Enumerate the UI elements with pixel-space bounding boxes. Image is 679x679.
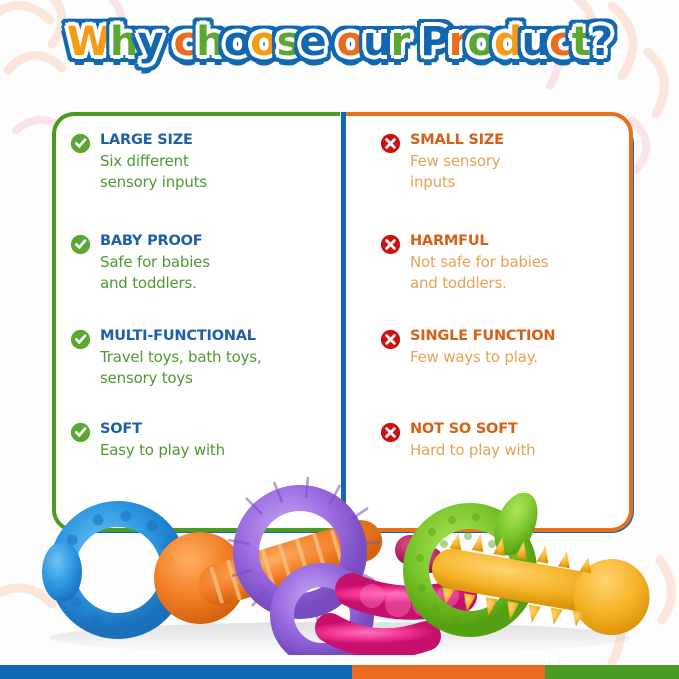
pros-feature-title: SOFT [100,421,142,437]
page-title: WhychooseourProduct? [0,22,679,62]
x-circle-icon [380,329,401,350]
title-letter-18: d [494,19,522,65]
title-letter-9: e [300,19,326,65]
cons-feature-title: SINGLE FUNCTION [410,328,555,344]
title-letter-17: o [467,19,493,65]
bottom-bar-segment-blue [0,665,352,679]
bottom-bar-segment-green [545,665,679,679]
pros-feature-title: MULTI-FUNCTIONAL [100,328,256,344]
title-letter-15: P [420,19,448,65]
title-letter-11: o [337,19,363,65]
cons-feature-desc: Hard to play with [410,440,630,461]
cons-feature-title: SMALL SIZE [410,132,504,148]
check-circle-icon [70,133,91,154]
bottom-color-bar [0,665,679,679]
comparison-panels: LARGE SIZE Six different sensory inputs … [0,0,679,679]
pros-feature-row: MULTI-FUNCTIONAL Travel toys, bath toys,… [70,327,330,389]
check-circle-icon [70,329,91,350]
check-circle-icon [70,422,91,443]
cons-feature-desc: Not safe for babies and toddlers. [410,252,630,294]
pros-feature-desc: Easy to play with [100,440,320,461]
title-letter-5: h [196,19,223,65]
title-letter-7: o [250,19,276,65]
cons-feature-title: HARMFUL [410,233,488,249]
cons-feature-row: NOT SO SOFT Hard to play with [380,420,630,461]
pros-feature-title: LARGE SIZE [100,132,193,148]
pros-feature-row: BABY PROOF Safe for babies and toddlers. [70,232,320,294]
title-letter-12: u [363,19,390,65]
title-letter-4: c [174,19,197,65]
title-letter-8: s [277,19,300,65]
panel-divider [341,112,346,536]
title-letter-6: o [224,19,250,65]
cons-feature-row: HARMFUL Not safe for babies and toddlers… [380,232,630,294]
title-letter-21: t [572,19,590,65]
cons-feature-desc: Few sensory inputs [410,151,630,193]
title-letter-1: h [110,19,137,65]
title-letter-20: c [549,19,572,65]
pros-feature-desc: Travel toys, bath toys, sensory toys [100,347,330,389]
pros-feature-desc: Six different sensory inputs [100,151,320,193]
cons-feature-desc: Few ways to play. [410,347,635,368]
title-letter-13: r [391,19,410,65]
check-circle-icon [70,234,91,255]
bottom-bar-segment-orange [352,665,546,679]
infographic-canvas: WhychooseourProduct? LARGE SIZE Six diff… [0,0,679,679]
title-letter-0: W [67,19,110,65]
x-circle-icon [380,234,401,255]
cons-feature-title: NOT SO SOFT [410,421,518,437]
x-circle-icon [380,422,401,443]
page-title-text: WhychooseourProduct? [67,22,612,62]
x-circle-icon [380,133,401,154]
pros-feature-row: LARGE SIZE Six different sensory inputs [70,131,320,193]
cons-feature-row: SINGLE FUNCTION Few ways to play. [380,327,635,368]
title-letter-22: ? [590,19,612,65]
cons-feature-row: SMALL SIZE Few sensory inputs [380,131,630,193]
title-letter-2: y [137,19,162,65]
pros-feature-title: BABY PROOF [100,233,202,249]
pros-feature-row: SOFT Easy to play with [70,420,320,461]
title-letter-16: r [449,19,468,65]
pros-feature-desc: Safe for babies and toddlers. [100,252,320,294]
title-letter-19: u [522,19,549,65]
